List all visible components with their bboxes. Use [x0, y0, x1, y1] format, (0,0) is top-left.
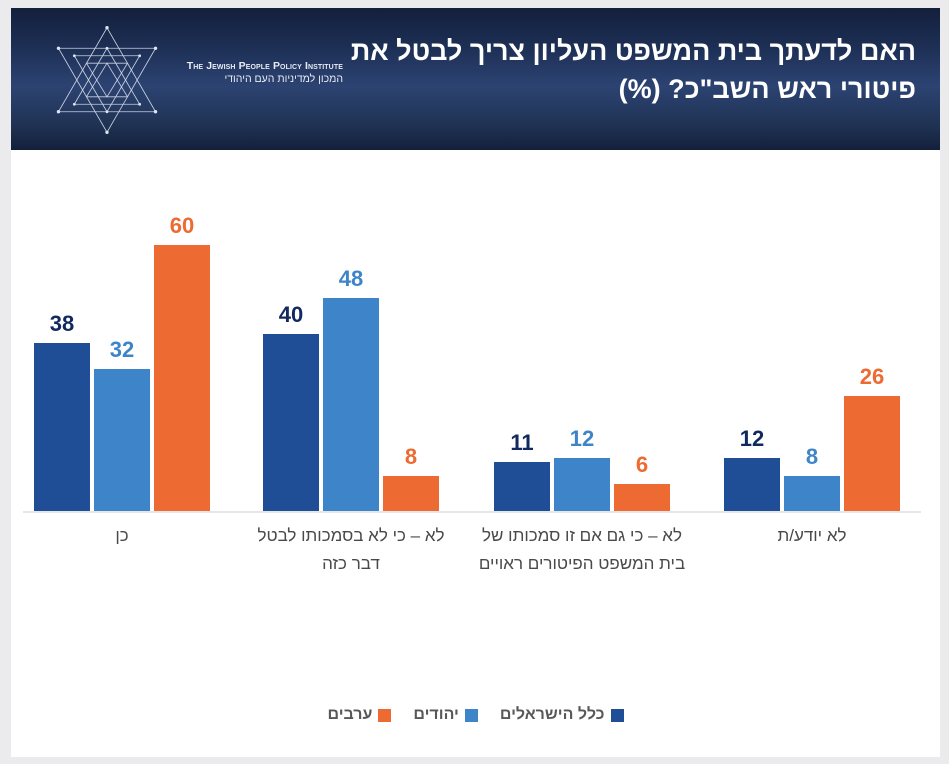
bar[interactable]: 8: [383, 476, 439, 511]
bar-rect[interactable]: [323, 298, 379, 511]
chart-plot-area: 383260404881112612826 כןלא – כי לא בסמכו…: [11, 150, 940, 757]
bar[interactable]: 26: [844, 396, 900, 511]
legend-label: כלל הישראלים: [500, 706, 605, 724]
bar-rect[interactable]: [34, 343, 90, 511]
bar-value-label: 32: [86, 339, 158, 361]
bar[interactable]: 12: [724, 458, 780, 511]
bar-value-label: 60: [146, 215, 218, 237]
bar-rect[interactable]: [614, 484, 670, 511]
bar[interactable]: 48: [323, 298, 379, 511]
category-label: לא יודע/ת: [704, 522, 920, 550]
bar[interactable]: 12: [554, 458, 610, 511]
bar-rect[interactable]: [154, 245, 210, 511]
bar[interactable]: 40: [263, 334, 319, 511]
legend-label: יהודים: [413, 706, 459, 724]
legend-swatch-icon: [611, 709, 624, 722]
bar-value-label: 48: [315, 268, 387, 290]
bar-rect[interactable]: [724, 458, 780, 511]
bar[interactable]: 11: [494, 462, 550, 511]
bar-group: 11126: [494, 150, 670, 511]
x-axis-line: [23, 511, 921, 513]
chart-legend: כלל הישראליםיהודיםערבים: [11, 706, 940, 724]
bar-rect[interactable]: [263, 334, 319, 511]
bar-rect[interactable]: [494, 462, 550, 511]
bar-group: 40488: [263, 150, 439, 511]
bar-group: 383260: [34, 150, 210, 511]
star-of-david-logo-icon: [51, 24, 163, 136]
bar-value-label: 26: [836, 366, 908, 388]
chart-card: The Jewish People Policy Institute המכון…: [11, 8, 940, 757]
bar-value-label: 8: [375, 446, 447, 468]
bar-group: 12826: [724, 150, 900, 511]
bar[interactable]: 6: [614, 484, 670, 511]
bar[interactable]: 32: [94, 369, 150, 511]
legend-item[interactable]: ערבים: [327, 706, 391, 724]
page-title: האם לדעתך בית המשפט העליון צריך לבטל את …: [316, 32, 916, 109]
bar-rect[interactable]: [383, 476, 439, 511]
bar-rect[interactable]: [94, 369, 150, 511]
chart-page: The Jewish People Policy Institute המכון…: [0, 0, 949, 764]
jppi-logo: The Jewish People Policy Institute המכון…: [43, 18, 343, 142]
bar-value-label: 6: [606, 454, 678, 476]
bar-value-label: 38: [26, 313, 98, 335]
legend-label: ערבים: [327, 706, 372, 724]
bar-value-label: 8: [776, 446, 848, 468]
legend-swatch-icon: [378, 709, 391, 722]
legend-item[interactable]: כלל הישראלים: [500, 706, 624, 724]
bar-rect[interactable]: [844, 396, 900, 511]
bar-value-label: 40: [255, 304, 327, 326]
bar[interactable]: 8: [784, 476, 840, 511]
bar-rect[interactable]: [554, 458, 610, 511]
bar-rect[interactable]: [784, 476, 840, 511]
bar[interactable]: 60: [154, 245, 210, 511]
bar[interactable]: 38: [34, 343, 90, 511]
chart-header: The Jewish People Policy Institute המכון…: [11, 8, 940, 150]
legend-swatch-icon: [465, 709, 478, 722]
legend-item[interactable]: יהודים: [413, 706, 478, 724]
category-label: לא – כי גם אם זו סמכותו של בית המשפט הפי…: [474, 522, 690, 577]
category-label: לא – כי לא בסמכותו לבטל דבר כזה: [243, 522, 459, 577]
bar-value-label: 12: [546, 428, 618, 450]
category-label: כן: [14, 522, 230, 550]
